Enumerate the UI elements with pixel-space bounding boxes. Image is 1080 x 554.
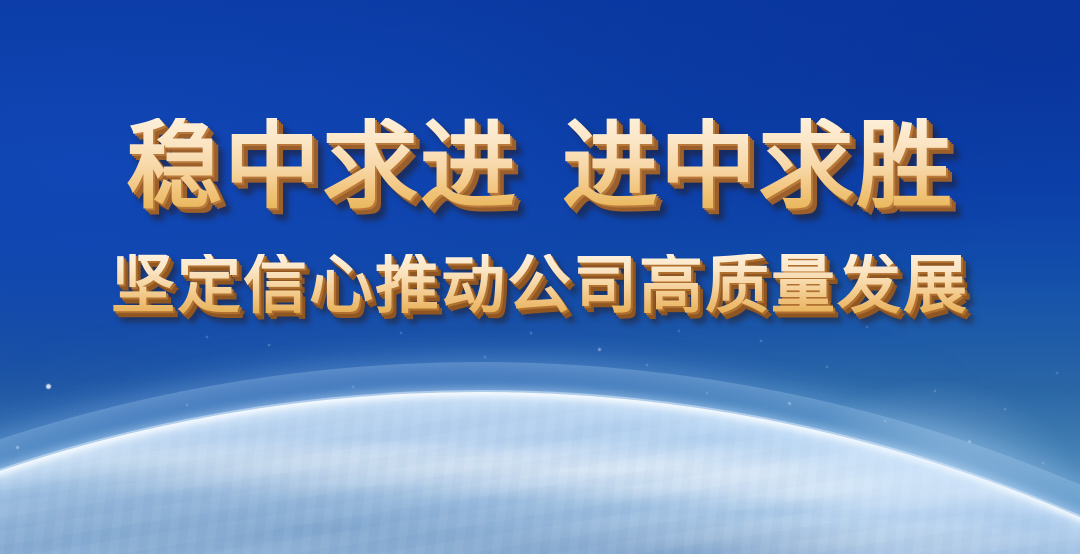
subheadline: 坚定信心推动公司高质量发展 xyxy=(0,254,1080,318)
promotional-banner: 稳中求进进中求胜 坚定信心推动公司高质量发展 xyxy=(0,0,1080,554)
headline-phrase-1: 稳中求进 xyxy=(126,110,518,222)
headline-block: 稳中求进进中求胜 坚定信心推动公司高质量发展 xyxy=(0,118,1080,318)
earth-surface-texture xyxy=(0,392,1080,554)
headline: 稳中求进进中求胜 xyxy=(0,118,1080,214)
headline-phrase-2: 进中求胜 xyxy=(562,110,954,222)
